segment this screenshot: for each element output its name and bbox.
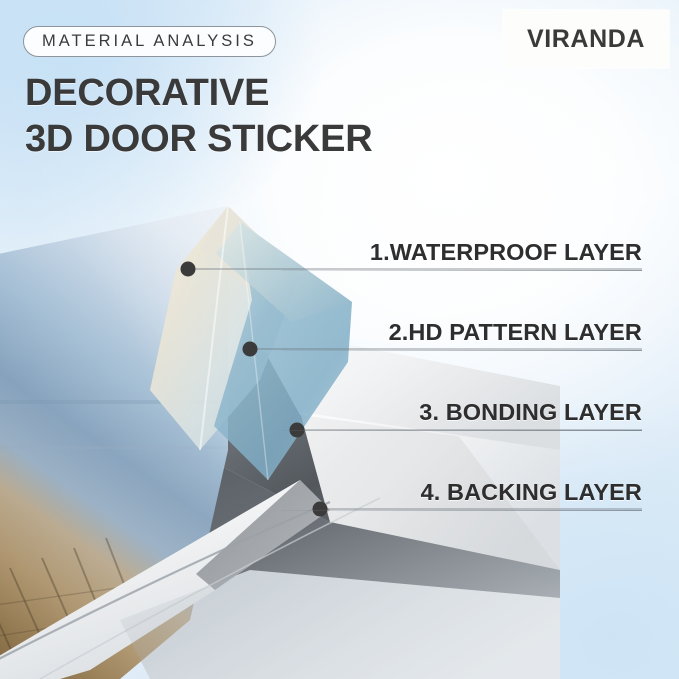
callout-waterproof-layer: 1.WATERPROOF LAYER	[282, 239, 642, 271]
callout-bonding-layer: 3. BONDING LAYER	[282, 399, 642, 431]
callout-underline-3	[282, 430, 642, 431]
callout-label-2: 2.HD PATTERN LAYER	[282, 319, 642, 350]
material-analysis-badge: MATERIAL ANALYSIS	[23, 26, 276, 57]
callout-backing-layer: 4. BACKING LAYER	[282, 479, 642, 511]
brand-logo-text: VIRANDA	[527, 25, 645, 54]
callout-underline-1	[282, 270, 642, 271]
callout-hd-pattern-layer: 2.HD PATTERN LAYER	[282, 319, 642, 351]
callout-label-3: 3. BONDING LAYER	[282, 399, 642, 430]
callout-label-4: 4. BACKING LAYER	[282, 479, 642, 510]
material-analysis-badge-label: MATERIAL ANALYSIS	[42, 32, 257, 51]
callout-label-1: 1.WATERPROOF LAYER	[282, 239, 642, 270]
page-title-line-2: 3D DOOR STICKER	[25, 118, 372, 161]
callout-underline-4	[282, 510, 642, 511]
page-title-line-1: DECORATIVE	[25, 72, 269, 115]
brand-logo: VIRANDA	[503, 10, 669, 68]
callout-underline-2	[282, 350, 642, 351]
infographic-canvas: MATERIAL ANALYSIS DECORATIVE 3D DOOR STI…	[0, 0, 679, 679]
